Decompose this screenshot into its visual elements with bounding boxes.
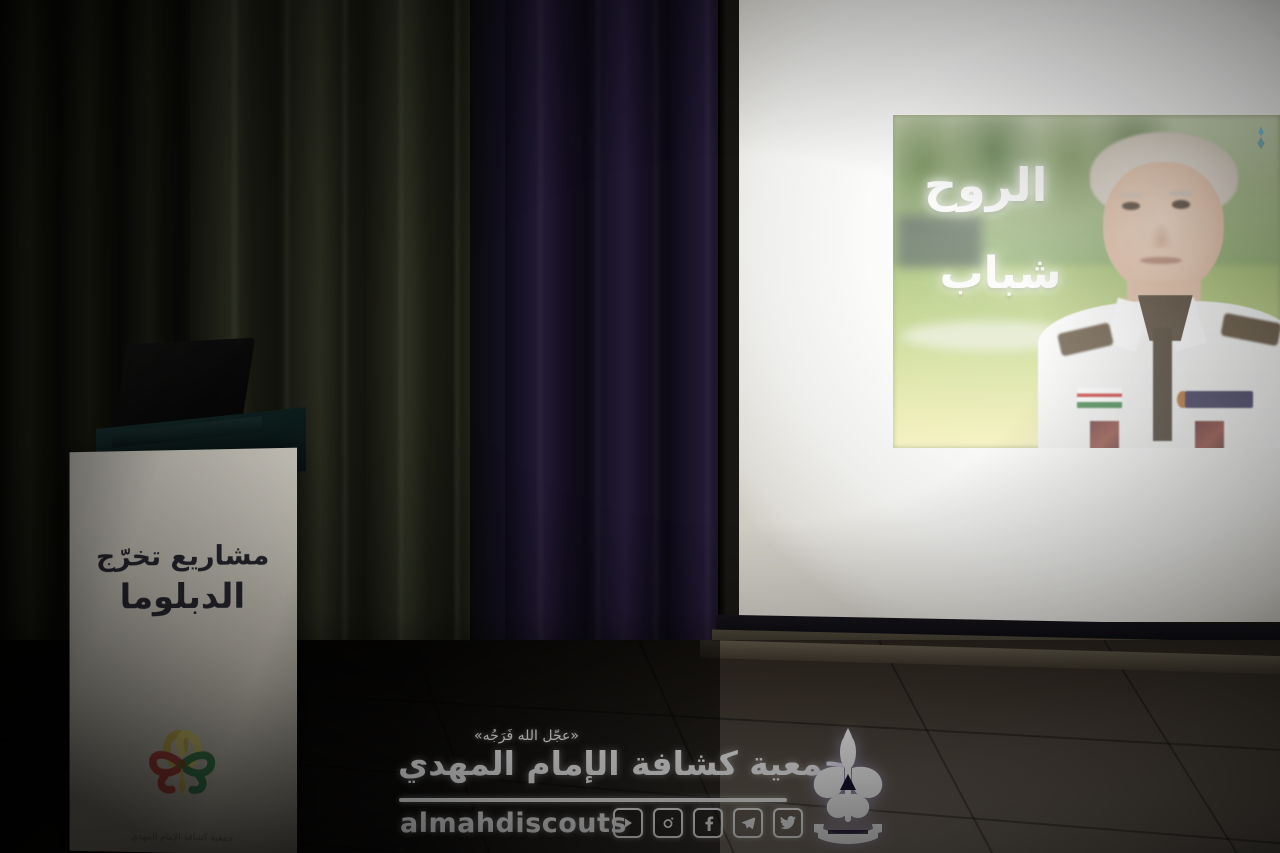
video-scout-leader bbox=[1032, 128, 1280, 448]
scene-root: الروح شباب مشاريع تخرّج الدبلوما bbox=[0, 0, 1280, 853]
uniform-badge-left bbox=[1090, 421, 1119, 448]
lebanon-flag-patch bbox=[1077, 388, 1122, 408]
curtain-purple bbox=[505, 0, 735, 700]
watermark-divider bbox=[399, 798, 787, 802]
video-headline-line2: شباب bbox=[939, 248, 1061, 299]
scout-fleur-de-lis-emblem-icon bbox=[802, 724, 894, 850]
eyebrow-left bbox=[1119, 193, 1143, 198]
screen-left-edge bbox=[718, 0, 727, 640]
eyebrow-right bbox=[1169, 191, 1193, 196]
video-corner-logo-icon bbox=[1250, 125, 1272, 151]
mouth bbox=[1140, 257, 1182, 264]
necktie bbox=[1153, 328, 1171, 441]
eye-right bbox=[1172, 200, 1190, 209]
standee-title-line2: الدبلوما bbox=[70, 575, 297, 619]
watermark-social-row bbox=[613, 808, 803, 838]
name-tag bbox=[1185, 391, 1253, 408]
video-headline-line1: الروح bbox=[924, 158, 1047, 212]
watermark-org-name: جمعية كشافة الإمام المهدي bbox=[398, 744, 847, 783]
projected-video: الروح شباب bbox=[893, 115, 1280, 448]
standee-title: مشاريع تخرّج الدبلوما bbox=[70, 539, 297, 619]
uniform-badge-right bbox=[1195, 421, 1224, 448]
watermark-overlay: «عجّل الله فَرَجُه» جمعية كشافة الإمام ا… bbox=[398, 728, 888, 850]
standee-subtitle: جمعية كشافة الإمام المهدي bbox=[70, 831, 297, 845]
telegram-icon[interactable] bbox=[733, 808, 763, 838]
facebook-icon[interactable] bbox=[693, 808, 723, 838]
watermark-handle: almahdiscouts bbox=[400, 808, 627, 839]
nose bbox=[1151, 222, 1172, 249]
rollup-banner-standee: مشاريع تخرّج الدبلوما جمعية كشافة الإمام… bbox=[70, 448, 297, 853]
standee-title-line1: مشاريع تخرّج bbox=[70, 539, 297, 575]
watermark-blessing: «عجّل الله فَرَجُه» bbox=[474, 728, 579, 744]
twitter-icon[interactable] bbox=[773, 808, 803, 838]
trefoil-flower-logo-icon bbox=[139, 714, 225, 801]
instagram-icon[interactable] bbox=[653, 808, 683, 838]
youtube-icon[interactable] bbox=[613, 808, 643, 838]
